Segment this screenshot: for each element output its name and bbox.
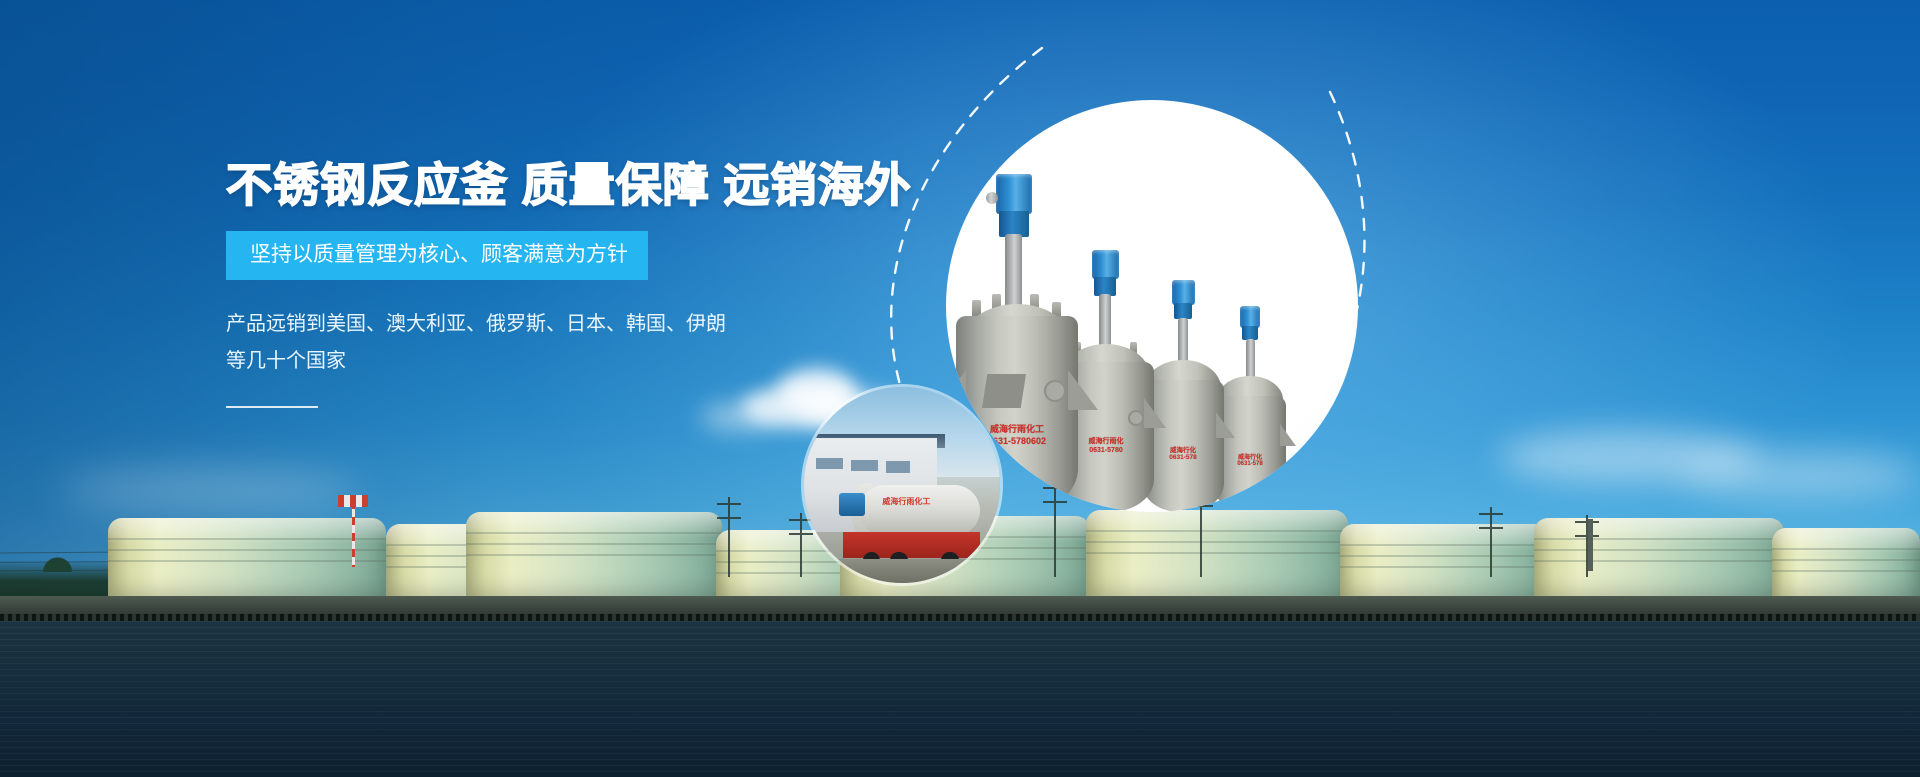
agitator-motor-icon: [1240, 306, 1260, 328]
storage-tank: [1340, 524, 1548, 600]
photo-ground: [804, 559, 1000, 583]
smokestack-icon: [1588, 519, 1593, 571]
product-photo-circle[interactable]: 威海行化 0631-578 威海行化 0631-578: [946, 100, 1358, 512]
factory-photo-circle[interactable]: 威海行雨化工: [804, 387, 1000, 583]
hero-banner: 威海行化 0631-578 威海行化 0631-578: [0, 0, 1920, 777]
page-title: 不锈钢反应釜 质量保障 远销海外: [226, 160, 926, 211]
flatbed-truck: [843, 532, 980, 557]
vessel-stamp-company: 威海行化: [1146, 444, 1220, 454]
agitator-motor-icon: [839, 493, 864, 517]
agitator-motor-icon: [1172, 280, 1195, 305]
cloud-icon: [1680, 452, 1920, 498]
manhole-flange-icon: [1044, 380, 1066, 402]
agitator-shaft: [1246, 339, 1255, 381]
motor-fan-icon: [986, 192, 998, 204]
window-icon: [816, 458, 843, 470]
vessel-stamp-phone: 0631-578: [1218, 461, 1282, 467]
window-icon: [886, 461, 910, 473]
description-line-2: 等几十个国家: [226, 343, 926, 380]
slogan-badge: 坚持以质量管理为核心、顾客满意为方针: [226, 231, 648, 280]
gearbox-icon: [1242, 326, 1258, 340]
transported-vessel: [859, 485, 981, 536]
divider-rule: [226, 406, 318, 408]
window-icon: [851, 460, 878, 472]
vessel-stamp-company: 威海行化: [1218, 452, 1282, 461]
cloud-icon: [700, 404, 780, 430]
radio-tower-icon: [352, 501, 355, 567]
storage-tank: [466, 512, 722, 600]
storage-tank: [1772, 528, 1920, 600]
vessel-stamp-phone: 0631-578: [1146, 454, 1220, 461]
cloud-icon: [60, 470, 360, 510]
pylon-icon: [800, 513, 802, 577]
banner-copy-block: 不锈钢反应釜 质量保障 远销海外 坚持以质量管理为核心、顾客满意为方针 产品远销…: [226, 160, 926, 408]
description-line-1: 产品远销到美国、澳大利亚、俄罗斯、日本、韩国、伊朗: [226, 306, 926, 343]
manhole-flange-icon: [1128, 410, 1144, 426]
agitator-shaft: [1178, 318, 1188, 366]
agitator-shaft: [1099, 294, 1111, 350]
agitator-motor-icon: [996, 174, 1032, 214]
storage-tank: [108, 518, 386, 600]
reactor-vessel: 威海行化 0631-578: [1142, 280, 1224, 512]
agitator-motor-icon: [1092, 250, 1119, 279]
pylon-icon: [1490, 507, 1492, 577]
water-surface: [0, 621, 1920, 777]
storage-tank: [1534, 518, 1784, 600]
pylon-icon: [728, 497, 730, 577]
storage-tank: [1086, 510, 1348, 600]
photo-stamp-company: 威海行雨化工: [882, 497, 930, 506]
reactor-vessel: 威海行化 0631-578: [1214, 306, 1286, 512]
gearbox-icon: [1174, 303, 1192, 319]
agitator-shaft: [1005, 234, 1022, 312]
